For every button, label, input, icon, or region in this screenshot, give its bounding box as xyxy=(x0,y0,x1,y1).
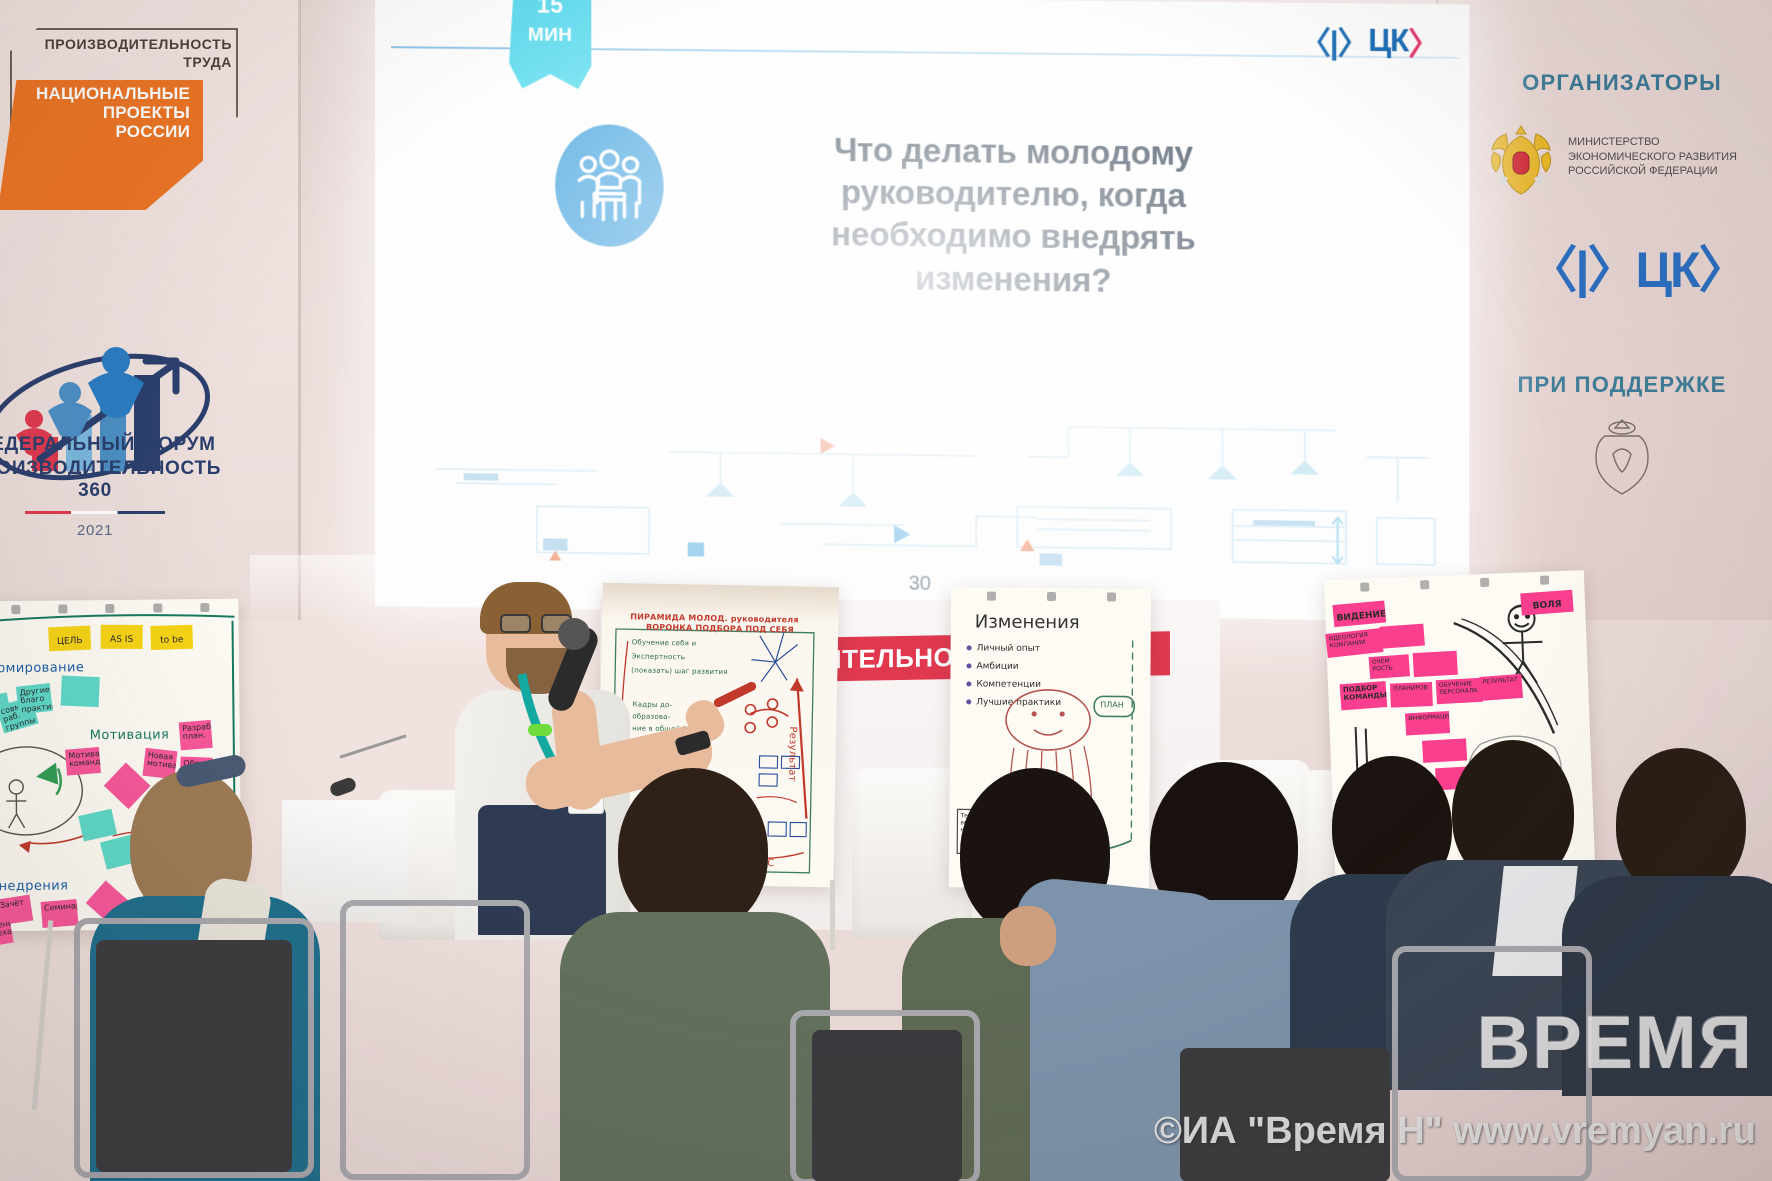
slide-title-line-4: изменения? xyxy=(711,255,1317,305)
banner-fck-logo-text: 〈|〉ЦК〉 xyxy=(1527,230,1746,302)
flipchart-heading: Внедрения xyxy=(0,878,68,894)
banner-fck-logo: 〈|〉ЦК〉 xyxy=(1462,230,1772,302)
sticky-note: ЦЕЛЬ xyxy=(48,625,91,651)
banner-organizers: ОРГАНИЗАТОРЫ МИНИСТЕРСТВО ЭКОНОМИЧЕСКОГО… xyxy=(1462,70,1772,590)
plan-label: ПЛАН xyxy=(1100,700,1124,709)
flipchart-item: Кадры до- xyxy=(632,701,672,709)
sticky-note: AS IS xyxy=(101,625,143,649)
flipchart-heading: Мотивация xyxy=(90,727,170,743)
meeting-people-glyph xyxy=(572,147,646,224)
chair-center-seat[interactable] xyxy=(812,1030,962,1181)
sticky-note: ОБУЧЕНИЕ ПЕРСОНАЛА xyxy=(1436,678,1483,705)
flipchart-item: Результат xyxy=(786,726,798,781)
watermark-brand: ВРЕМЯ xyxy=(1477,1000,1754,1085)
forum-tricolor-rule xyxy=(25,511,165,514)
ministry-row: МИНИСТЕРСТВО ЭКОНОМИЧЕСКОГО РАЗВИТИЯ РОС… xyxy=(1462,118,1772,196)
slide-page-number: 30 xyxy=(909,573,931,596)
sticky-note xyxy=(61,676,100,708)
flipchart-item: Обучение себя и xyxy=(632,639,697,648)
regional-emblem-wrap xyxy=(1462,414,1772,511)
sticky-note: Семинар xyxy=(41,899,79,928)
chair-left-seat[interactable] xyxy=(96,940,292,1172)
factory-line-art xyxy=(415,409,1439,574)
logo-orange-text: НАЦИОНАЛЬНЫЕ ПРОЕКТЫ РОССИИ xyxy=(18,84,190,141)
flipchart-item: образова- xyxy=(632,713,670,721)
regional-coat-of-arms-icon xyxy=(1583,414,1661,506)
photo-scene: ПРОИЗВОДИТЕЛЬНОСТЬ ТРУДА НАЦИОНАЛЬНЫЕ ПР… xyxy=(0,0,1772,1181)
slide-title-line-1: Что делать молодому xyxy=(711,128,1317,177)
flipchart-item: Экспертность xyxy=(631,653,685,662)
national-projects-logo: ПРОИЗВОДИТЕЛЬНОСТЬ ТРУДА НАЦИОНАЛЬНЫЕ ПР… xyxy=(10,24,240,204)
ministry-name: МИНИСТЕРСТВО ЭКОНОМИЧЕСКОГО РАЗВИТИЯ РОС… xyxy=(1568,135,1737,180)
time-badge-unit: МИН xyxy=(528,26,573,45)
green-wristband-icon xyxy=(528,724,552,736)
sticky-note: Разработка план. xyxy=(179,720,213,750)
forum-caption-line2: ПРОИЗВОДИТЕЛЬНОСТЬ 360 xyxy=(0,458,240,502)
organizers-heading: ОРГАНИЗАТОРЫ xyxy=(1462,70,1772,96)
logo-label-line1: ПРОИЗВОДИТЕЛЬНОСТЬ xyxy=(34,36,232,54)
slide-title-line-3: необходимо внедрять xyxy=(711,212,1317,261)
sticky-note: ИНФОРМАЦИЯ xyxy=(1405,711,1450,735)
factory-line-art-svg xyxy=(415,409,1439,574)
meeting-people-icon xyxy=(555,124,663,247)
orange-line-2: ПРОЕКТЫ xyxy=(18,103,190,122)
support-heading: ПРИ ПОДДЕРЖКЕ xyxy=(1462,372,1772,398)
sticky-note: Мотивация команды xyxy=(65,747,101,776)
slide-title-line-2: руководителю, когда xyxy=(711,170,1317,219)
fck-letters: ЦК xyxy=(1368,22,1408,59)
sticky-note xyxy=(1379,624,1424,649)
time-badge: 15 МИН xyxy=(509,0,591,89)
orange-line-3: РОССИИ xyxy=(18,122,190,141)
orange-line-1: НАЦИОНАЛЬНЫЕ xyxy=(18,84,190,103)
sticky-note: ВОЛЯ xyxy=(1520,590,1573,616)
sticky-note: Другие благо практики xyxy=(16,683,53,715)
projected-slide: 15 МИН 〈|〉 ЦК 〉 xyxy=(375,0,1469,622)
forum-caption-line1: ФЕДЕРАЛЬНЫЙ ФОРУМ xyxy=(0,434,240,456)
russia-coat-of-arms-icon xyxy=(1484,118,1558,196)
audience-hand xyxy=(1000,906,1056,966)
microphone-head-icon xyxy=(558,618,590,650)
forum-year: 2021 xyxy=(0,522,240,539)
fck-right-bracket-icon: 〉 xyxy=(1408,18,1439,64)
chair-second[interactable] xyxy=(340,900,530,1180)
banner-national-projects: ПРОИЗВОДИТЕЛЬНОСТЬ ТРУДА НАЦИОНАЛЬНЫЕ ПР… xyxy=(0,24,265,584)
watermark-credit: ©ИА "Время Н" www.vremyan.ru xyxy=(1154,1110,1756,1153)
sticky-note: РЕЗУЛЬТАТ xyxy=(1479,674,1523,701)
flipchart-heading: Формирование xyxy=(0,660,84,676)
forum-caption: ФЕДЕРАЛЬНЫЙ ФОРУМ ПРОИЗВОДИТЕЛЬНОСТЬ 360… xyxy=(0,434,240,539)
logo-productivity-label: ПРОИЗВОДИТЕЛЬНОСТЬ ТРУДА xyxy=(34,36,232,71)
slide-title: Что делать молодому руководителю, когда … xyxy=(711,128,1317,305)
logo-orange-block: НАЦИОНАЛЬНЫЕ ПРОЕКТЫ РОССИИ xyxy=(0,80,203,210)
sticky-note: ОЧЕМ РОСТЬ xyxy=(1369,654,1411,679)
glasses-lens-left xyxy=(500,614,531,633)
fck-left-bracket-icon: 〈|〉 xyxy=(1299,17,1368,63)
ministry-line-3: РОССИЙСКОЙ ФЕДЕРАЦИИ xyxy=(1568,164,1737,179)
sticky-note xyxy=(1422,738,1467,762)
logo-label-line2: ТРУДА xyxy=(34,54,232,72)
ministry-line-2: ЭКОНОМИЧЕСКОГО РАЗВИТИЯ xyxy=(1568,150,1737,165)
sticky-note: ПОДБОР КОМАНДЫ xyxy=(1340,681,1388,710)
audience-head xyxy=(618,768,768,934)
flipchart-leg xyxy=(830,880,835,950)
sticky-note: to be xyxy=(150,625,193,650)
wall-seam-left xyxy=(298,0,301,620)
slide-fck-logo: 〈|〉 ЦК 〉 xyxy=(1299,17,1438,64)
ministry-line-1: МИНИСТЕРСТВО xyxy=(1568,135,1737,150)
sticky-note: ВИДЕНИЕ xyxy=(1332,600,1386,627)
time-badge-value: 15 xyxy=(537,0,564,17)
sticky-note: ПЛАНИРОВ xyxy=(1390,682,1433,708)
sticky-note xyxy=(1413,651,1458,677)
